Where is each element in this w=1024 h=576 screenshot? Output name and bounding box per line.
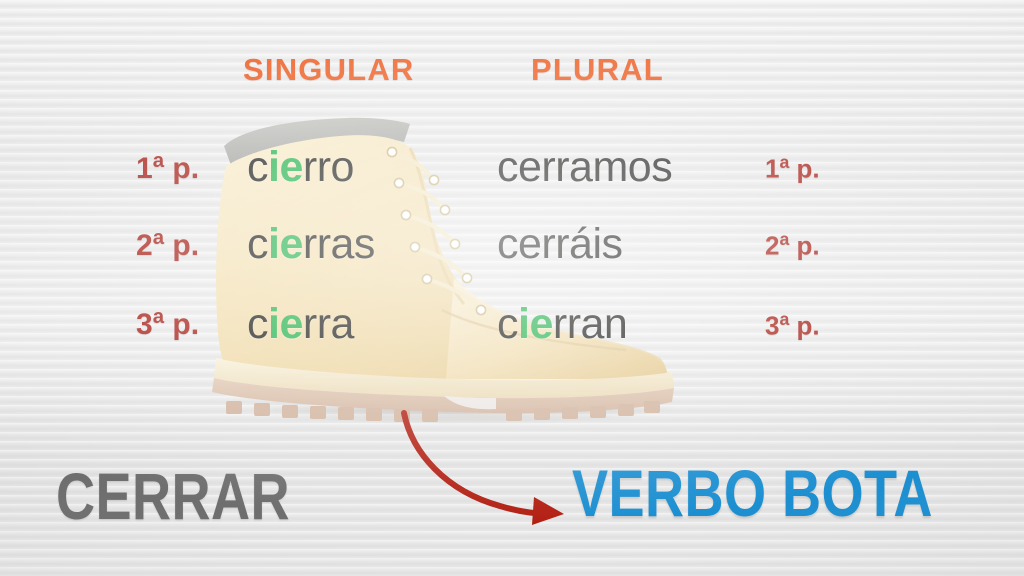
- person-marker-singular-2: 2a p.: [136, 227, 199, 263]
- person-marker-singular-1: 1a p.: [136, 150, 199, 186]
- conjugation-singular-3: cierra: [247, 300, 354, 349]
- conjugation-plural-2: cerráis: [497, 220, 623, 269]
- person-marker-plural-1: 1a p.: [765, 152, 820, 185]
- person-number: 2: [136, 229, 153, 262]
- conjugation-singular-2: cierras: [247, 220, 375, 269]
- verb-prefix: cerramos: [497, 143, 672, 191]
- person-ordinal: a: [779, 229, 789, 249]
- verb-suffix: rran: [553, 300, 627, 348]
- person-ordinal: a: [153, 306, 164, 328]
- person-marker-plural-2: 2a p.: [765, 229, 820, 262]
- person-marker-singular-3: 3a p.: [136, 306, 199, 342]
- person-number: 2: [765, 231, 779, 261]
- curved-arrow-icon: [370, 395, 590, 525]
- verb-prefix: c: [247, 220, 268, 268]
- verb-diphthong: ie: [518, 300, 553, 348]
- person-number: 1: [136, 152, 153, 185]
- verb-prefix: c: [247, 143, 268, 191]
- person-abbrev: p.: [164, 229, 199, 262]
- person-abbrev: p.: [789, 154, 819, 184]
- person-abbrev: p.: [164, 152, 199, 185]
- person-abbrev: p.: [789, 231, 819, 261]
- conjugation-plural-1: cerramos: [497, 143, 672, 192]
- person-ordinal: a: [153, 227, 164, 249]
- slide-canvas: SINGULAR PLURAL 1a p. 2a p. 3a p. 1a p. …: [0, 0, 1024, 576]
- person-number: 3: [136, 308, 153, 341]
- person-marker-plural-3: 3a p.: [765, 309, 820, 342]
- verb-prefix: c: [497, 300, 518, 348]
- person-ordinal: a: [779, 309, 789, 329]
- person-number: 3: [765, 311, 779, 341]
- verb-type-label: VERBO BOTA: [572, 455, 933, 531]
- conjugation-plural-3: cierran: [497, 300, 627, 349]
- infinitive-label: CERRAR: [56, 458, 290, 534]
- conjugation-singular-1: cierro: [247, 143, 354, 192]
- verb-diphthong: ie: [268, 220, 303, 268]
- verb-suffix: rra: [303, 300, 354, 348]
- person-ordinal: a: [779, 152, 789, 172]
- column-header-plural: PLURAL: [531, 52, 664, 88]
- verb-prefix: c: [247, 300, 268, 348]
- person-abbrev: p.: [164, 308, 199, 341]
- verb-diphthong: ie: [268, 143, 303, 191]
- person-abbrev: p.: [789, 311, 819, 341]
- verb-suffix: rras: [303, 220, 375, 268]
- person-ordinal: a: [153, 150, 164, 172]
- column-header-singular: SINGULAR: [243, 52, 415, 88]
- person-number: 1: [765, 154, 779, 184]
- verb-diphthong: ie: [268, 300, 303, 348]
- verb-suffix: rro: [303, 143, 354, 191]
- verb-prefix: cerráis: [497, 220, 623, 268]
